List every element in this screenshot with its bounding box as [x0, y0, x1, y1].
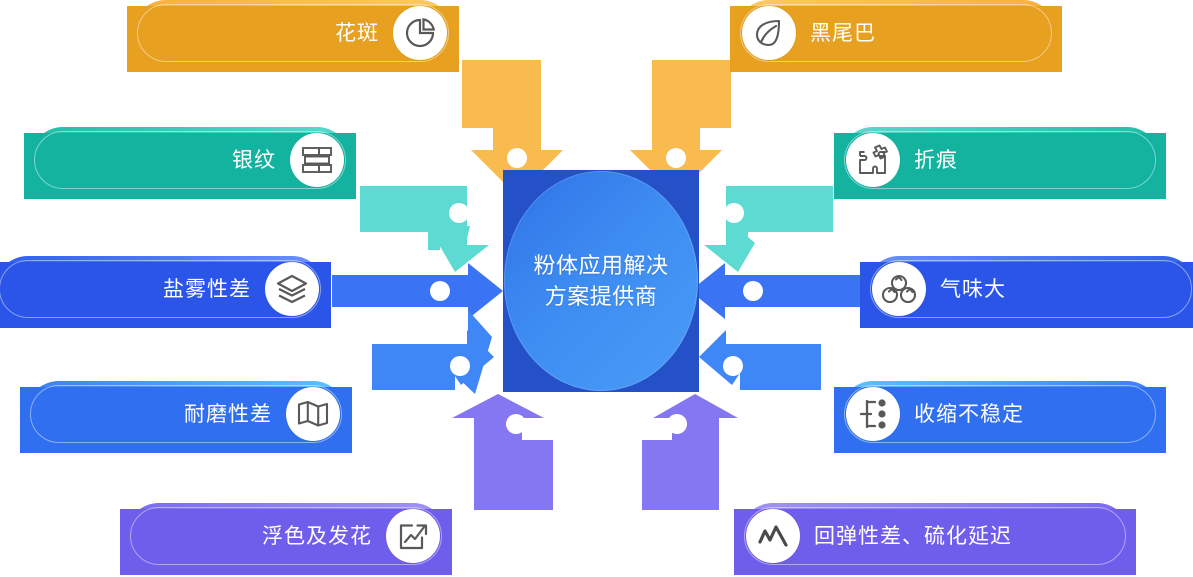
- node-label: 耐磨性差: [184, 404, 272, 425]
- brick-wall-icon: [290, 133, 344, 187]
- node-shou-suo-bu-wen-ding[interactable]: 收缩不稳定: [840, 381, 1160, 447]
- layers-icon: [265, 262, 319, 316]
- chart-arrow-up-icon: [386, 509, 440, 563]
- connector-yin-wen: [360, 186, 489, 272]
- sitemap-icon: [846, 387, 900, 441]
- node-fu-se-ji-fa-hua[interactable]: 浮色及发花: [126, 503, 446, 569]
- connector-yan-wu-xing-cha: [332, 263, 503, 319]
- center-label: 粉体应用解决 方案提供商: [503, 250, 699, 312]
- node-label: 回弹性差、硫化延迟: [814, 526, 1012, 547]
- node-zhe-hen[interactable]: 折痕: [840, 127, 1160, 193]
- node-label: 黑尾巴: [810, 23, 876, 44]
- center-node: 粉体应用解决 方案提供商: [503, 170, 699, 392]
- node-yin-wen[interactable]: 银纹: [30, 127, 350, 193]
- recycle-cycle-icon: [872, 262, 926, 316]
- connector-hui-tan-xing-cha: [642, 394, 738, 510]
- node-yan-wu-xing-cha[interactable]: 盐雾性差: [0, 256, 325, 322]
- node-label: 银纹: [232, 150, 276, 171]
- connector-qi-wei-da: [690, 263, 861, 319]
- connector-shou-suo-bu-wen-ding: [699, 330, 821, 390]
- node-qi-wei-da[interactable]: 气味大: [866, 256, 1193, 322]
- node-hui-tan-xing-cha[interactable]: 回弹性差、硫化延迟: [740, 503, 1130, 569]
- node-label: 折痕: [914, 150, 958, 171]
- node-label: 盐雾性差: [163, 279, 251, 300]
- connector-nai-mo-xing-cha: [372, 310, 494, 394]
- node-label: 气味大: [940, 279, 1006, 300]
- node-label: 收缩不稳定: [914, 404, 1024, 425]
- node-hua-ban[interactable]: 花斑: [133, 0, 453, 66]
- node-label: 花斑: [335, 23, 379, 44]
- pie-chart-icon: [393, 6, 447, 60]
- puzzle-icon: [846, 133, 900, 187]
- node-nai-mo-xing-cha[interactable]: 耐磨性差: [26, 381, 346, 447]
- line-chart-icon: [746, 509, 800, 563]
- node-label: 浮色及发花: [262, 526, 372, 547]
- connector-zhe-hen: [704, 186, 833, 272]
- infographic-canvas: 粉体应用解决 方案提供商 花斑 银纹: [0, 0, 1193, 577]
- node-hei-wei-ba[interactable]: 黑尾巴: [736, 0, 1056, 66]
- connector-fu-se-ji-fa-hua: [452, 394, 553, 510]
- map-icon: [286, 387, 340, 441]
- leaf-icon: [742, 6, 796, 60]
